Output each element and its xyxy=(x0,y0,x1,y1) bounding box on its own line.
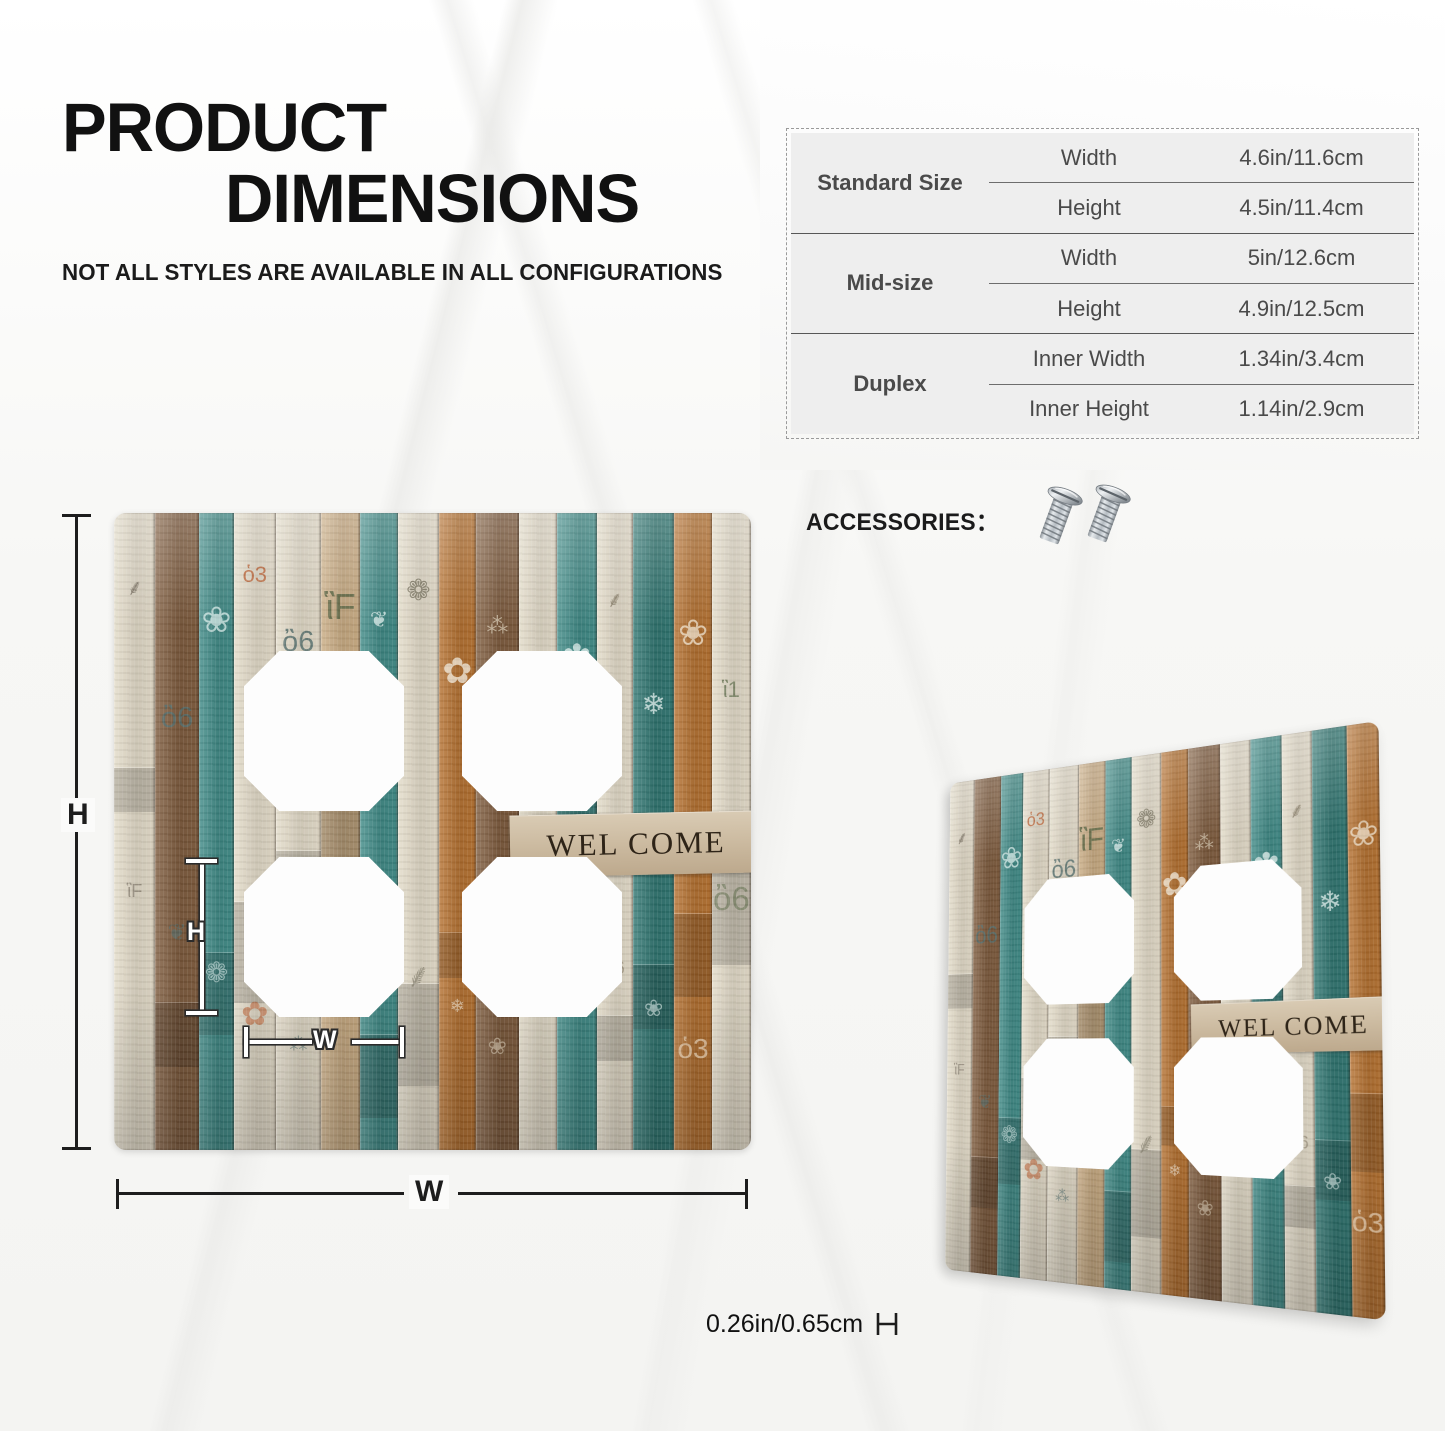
plank-motif-icon: ❦ xyxy=(360,609,397,631)
plank-weather-band xyxy=(633,965,674,1029)
thickness-marker-icon xyxy=(873,1309,903,1339)
table-cell-group: Duplex xyxy=(791,334,989,434)
wood-plank: ❁⸙ xyxy=(1131,753,1161,1295)
table-cell-group: Standard Size xyxy=(791,133,989,233)
plank-motif-icon: ⸙ xyxy=(1131,1128,1161,1159)
plank-weather-band xyxy=(597,1016,633,1061)
table-cell-value: 4.6in/11.6cm xyxy=(1189,133,1414,183)
wood-plank: ✿❄ xyxy=(1161,749,1189,1298)
plank-weather-band xyxy=(948,974,973,1009)
plank-motif-icon: ❀ xyxy=(1000,842,1022,874)
plank-motif-icon: ❀ xyxy=(476,1035,519,1058)
wood-plank: ❁⸙ xyxy=(398,513,439,1150)
plank-motif-icon: ἳF xyxy=(321,589,360,625)
plank-weather-band xyxy=(398,984,439,1086)
plank-motif-icon: ⁂ xyxy=(476,615,519,637)
plank-motif-icon: ἳ1 xyxy=(712,679,751,701)
dimensions-table-body: Standard Size Width 4.6in/11.6cm Height … xyxy=(791,133,1414,434)
plank-motif-icon: ❀ xyxy=(1315,1170,1351,1195)
plank-weather-band xyxy=(712,863,751,965)
table-row: Mid-size Width 5in/12.6cm xyxy=(791,233,1414,283)
plank-motif-icon: ❦ xyxy=(1106,835,1132,857)
plank-motif-icon: ❁ xyxy=(998,1123,1020,1148)
table-row: Duplex Inner Width 1.34in/3.4cm xyxy=(791,334,1414,384)
plank-motif-icon: ❄ xyxy=(1312,887,1348,917)
wood-plank: ἳFἳ3 xyxy=(1077,761,1106,1288)
plank-weather-band xyxy=(1315,1140,1351,1201)
accessories-label: ACCESSORIES： xyxy=(806,502,999,537)
plank-motif-icon: ❁ xyxy=(398,577,439,606)
thickness-value: 0.26in/0.65cm xyxy=(706,1310,863,1339)
plank-motif-icon: ❁ xyxy=(1132,806,1162,835)
page-title-line2: DIMENSIONS xyxy=(62,167,741,230)
inner-height-marker-cap-bottom xyxy=(186,1011,217,1015)
page-heading: PRODUCT DIMENSIONS NOT ALL STYLES ARE AV… xyxy=(62,96,762,286)
outer-height-marker-cap-bottom xyxy=(62,1147,91,1150)
outer-height-marker-cap-top xyxy=(62,514,91,517)
plank-motif-icon: ❄ xyxy=(1161,1162,1188,1180)
inner-height-marker-label: H xyxy=(187,918,205,947)
outlet-cutout-top-right xyxy=(462,651,622,811)
plank-weather-band xyxy=(1350,1094,1384,1173)
table-cell-value: 1.14in/2.9cm xyxy=(1189,384,1414,434)
page-subtitle: NOT ALL STYLES ARE AVAILABLE IN ALL CONF… xyxy=(62,259,727,286)
outer-width-marker-label: W xyxy=(409,1175,449,1209)
outlet-cutout-angled-bottom-right xyxy=(1174,1037,1304,1181)
wood-plank: ὁ3✿ xyxy=(234,513,275,1150)
plank-motif-icon: ⸙ xyxy=(950,828,975,848)
plank-weather-band xyxy=(674,914,711,997)
product-plate-front-view: ⸙ἳFὂ6❦❀❁ὁ3✿ὂ6⁂ἳFἳ3❦✽❁⸙✿❄⁂❀ἳ3ἳ1✽⸙⸙ὂ6❄❀❀ὁ3… xyxy=(114,513,751,1150)
wood-plank: ❦✽ xyxy=(360,513,397,1150)
page-title-line1: PRODUCT xyxy=(62,96,741,159)
plank-weather-band xyxy=(360,1035,397,1118)
table-cell-value: 5in/12.6cm xyxy=(1189,233,1414,283)
table-cell-attribute: Width xyxy=(989,133,1189,183)
table-cell-value: 4.5in/11.4cm xyxy=(1189,183,1414,233)
inner-width-marker-line-left xyxy=(244,1040,312,1044)
plank-weather-band xyxy=(1131,1149,1161,1239)
plank-motif-icon: ὂ6 xyxy=(155,704,198,733)
plank-motif-icon: ⸙ xyxy=(597,589,633,611)
table-cell-attribute: Height xyxy=(989,283,1189,333)
outlet-cutout-bottom-left xyxy=(244,857,404,1017)
wood-plank: ὂ6❦ xyxy=(155,513,198,1150)
plank-weather-band xyxy=(114,768,155,813)
inner-width-marker-line-right xyxy=(352,1040,404,1044)
outer-width-marker-cap-right xyxy=(745,1179,748,1209)
outlet-cutout-bottom-right xyxy=(462,857,622,1017)
plank-motif-icon: ὁ3 xyxy=(674,1035,711,1063)
wood-plank: ὁ3✿ xyxy=(1019,769,1049,1281)
dimensions-table-container: Standard Size Width 4.6in/11.6cm Height … xyxy=(786,128,1419,439)
screw-icon xyxy=(1027,479,1147,549)
plank-motif-icon: ❀ xyxy=(1188,1196,1222,1220)
inner-width-marker-label: W xyxy=(313,1026,337,1055)
plank-motif-icon: ἳF xyxy=(1079,823,1106,857)
plank-weather-band xyxy=(1284,1185,1315,1228)
plank-motif-icon: ❀ xyxy=(674,615,711,651)
plank-motif-icon: ⁂ xyxy=(1047,1187,1078,1205)
inner-height-marker-cap-top xyxy=(186,859,217,863)
outer-width-marker-line-right xyxy=(458,1192,748,1195)
plank-weather-band xyxy=(199,953,234,1036)
plank-motif-icon: ❄ xyxy=(439,997,475,1015)
plank-motif-icon: ⁂ xyxy=(1188,831,1221,854)
plank-motif-icon: ἳF xyxy=(114,882,155,900)
screw-icons-group xyxy=(1027,479,1147,549)
plank-motif-icon: ὂ6 xyxy=(973,923,1000,948)
outlet-cutout-angled-top-right xyxy=(1174,857,1302,1002)
plank-motif-icon: ἳF xyxy=(947,1062,972,1077)
wood-plank: ὂ6❦ xyxy=(970,776,1001,1275)
inner-width-marker-cap-right xyxy=(400,1027,404,1057)
plank-motif-icon: ὂ6 xyxy=(712,882,751,915)
outer-width-marker-cap-left xyxy=(116,1179,119,1209)
table-cell-group: Mid-size xyxy=(791,233,989,334)
wood-plank: ✿❄ xyxy=(439,513,475,1150)
table-cell-value: 1.34in/3.4cm xyxy=(1189,334,1414,384)
plank-motif-icon: ❀ xyxy=(633,997,674,1020)
outer-width-marker-line-left xyxy=(116,1192,404,1195)
plank-weather-band xyxy=(1104,1191,1131,1264)
dimensions-table: Standard Size Width 4.6in/11.6cm Height … xyxy=(791,133,1414,434)
wood-plank: ὂ6⁂ xyxy=(1046,765,1079,1285)
wood-plank: ❦✽ xyxy=(1104,757,1131,1291)
wood-plank: ⸙ἳF xyxy=(114,513,155,1150)
table-cell-attribute: Width xyxy=(989,233,1189,283)
plank-motif-icon: ὁ3 xyxy=(234,564,275,586)
outlet-cutout-top-left xyxy=(244,651,404,811)
outlet-cutout-angled-bottom-left xyxy=(1023,1038,1134,1171)
outer-height-marker-label: H xyxy=(61,798,95,832)
plank-motif-icon: ὁ3 xyxy=(1351,1207,1385,1238)
plank-motif-icon: ❄ xyxy=(633,691,674,720)
inner-width-marker-cap-left xyxy=(244,1027,248,1057)
table-cell-value: 4.9in/12.5cm xyxy=(1189,283,1414,333)
plank-motif-icon: ⸙ xyxy=(114,577,155,599)
plank-motif-icon: ❁ xyxy=(199,959,234,987)
table-cell-attribute: Inner Height xyxy=(989,384,1189,434)
table-row: Standard Size Width 4.6in/11.6cm xyxy=(791,133,1414,183)
plank-weather-band xyxy=(998,1118,1021,1185)
plank-weather-band xyxy=(971,1157,998,1209)
outer-height-marker-line xyxy=(75,514,78,1150)
thickness-annotation: 0.26in/0.65cm xyxy=(706,1309,903,1339)
product-plate-angled-view: ⸙ἳFὂ6❦❀❁ὁ3✿ὂ6⁂ἳFἳ3❦✽❁⸙✿❄⁂❀ἳ3ἳ1✽⸙⸙ὂ6❄❀❀ὁ3… xyxy=(945,721,1386,1320)
plank-motif-icon: ❦ xyxy=(972,1092,999,1112)
plank-motif-icon: ὁ3 xyxy=(1023,809,1050,830)
wood-plank: ❀❁ xyxy=(199,513,234,1150)
table-cell-attribute: Inner Width xyxy=(989,334,1189,384)
accessories-section: ACCESSORIES： xyxy=(806,489,1147,549)
plank-motif-icon: ❀ xyxy=(199,602,234,638)
table-cell-attribute: Height xyxy=(989,183,1189,233)
plank-motif-icon: ❀ xyxy=(1347,814,1380,852)
outlet-cutout-angled-top-left xyxy=(1024,872,1134,1005)
plank-motif-icon: ⸙ xyxy=(1282,799,1312,823)
product-plate-angled-view-stage: ⸙ἳFὂ6❦❀❁ὁ3✿ὂ6⁂ἳFἳ3❦✽❁⸙✿❄⁂❀ἳ3ἳ1✽⸙⸙ὂ6❄❀❀ὁ3… xyxy=(862,716,1382,1316)
